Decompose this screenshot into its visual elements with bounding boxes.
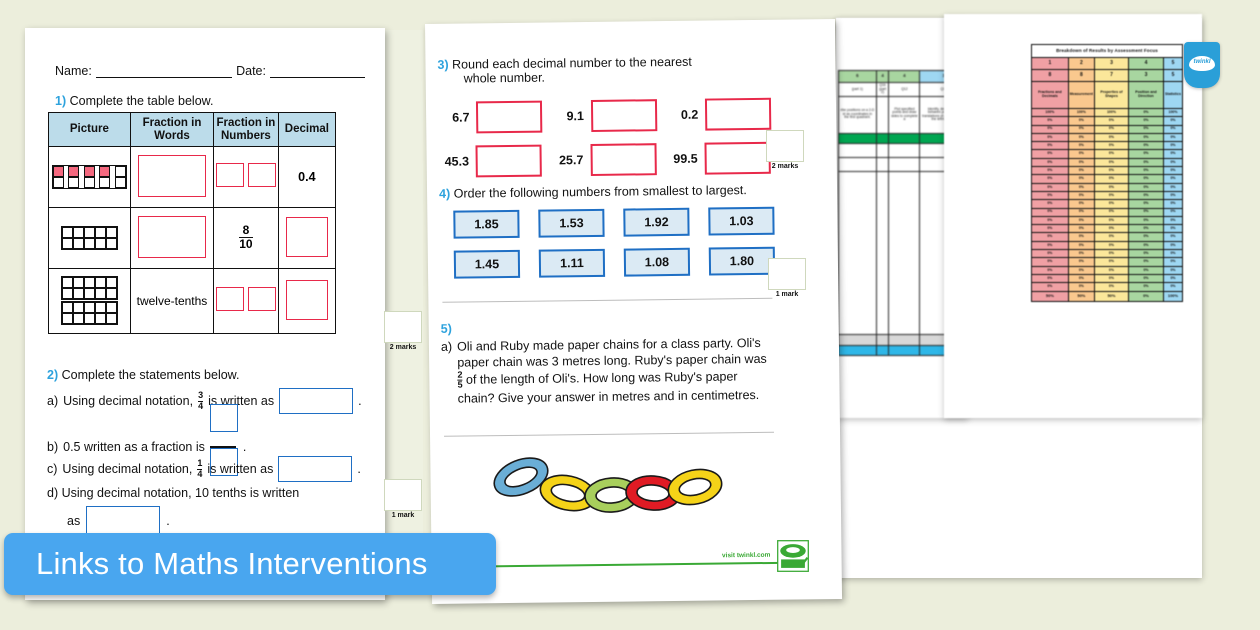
cell: 0%	[1163, 175, 1182, 183]
cell: 0%	[1128, 250, 1163, 258]
cell: 0%	[1032, 250, 1069, 258]
cell: 0%	[1163, 233, 1182, 241]
prompt-text: Order the following numbers from smalles…	[454, 183, 747, 201]
cell	[889, 133, 920, 143]
cell: 0%	[1068, 241, 1094, 249]
decimal-value: 45.3	[445, 154, 470, 168]
cell: 0%	[1128, 216, 1163, 224]
rounding-item: 99.5	[673, 142, 771, 175]
grid-cell	[62, 227, 73, 238]
answer-input-2d[interactable]	[86, 506, 160, 536]
name-input-line[interactable]	[96, 66, 232, 78]
banner-label: Links to Maths Interventions	[4, 546, 428, 582]
cell: 0%	[1032, 241, 1069, 249]
links-banner[interactable]: Links to Maths Interventions	[4, 533, 496, 595]
denominator: 4	[198, 401, 203, 411]
grid-cell	[84, 166, 95, 177]
decimal-cell-1: 0.4	[278, 147, 335, 208]
cell: 0%	[1128, 142, 1163, 150]
name-date-row: Name: Date:	[55, 64, 365, 78]
cell: 0%	[1032, 191, 1069, 199]
cell: 0%	[1163, 241, 1182, 249]
grid-row	[62, 302, 117, 313]
cell: 0%	[1068, 167, 1094, 175]
paper-chain-illustration	[488, 443, 728, 535]
cell: 0%	[1094, 233, 1128, 241]
date-input-line[interactable]	[270, 66, 365, 78]
mark-entry-field[interactable]	[384, 311, 422, 343]
grid-row	[62, 277, 117, 288]
fraction-words-cell-2	[130, 208, 213, 269]
cell: 0%	[1128, 266, 1163, 274]
cell: 0%	[1163, 158, 1182, 166]
blank-fraction[interactable]	[216, 163, 276, 187]
cell: 0%	[1128, 158, 1163, 166]
cell: 0%	[1032, 266, 1069, 274]
cell	[839, 334, 877, 345]
grid-cell	[53, 166, 64, 177]
answer-box[interactable]	[286, 280, 328, 320]
cell: Plot specified points and draw sides to …	[889, 96, 920, 133]
question-number: 2)	[47, 368, 58, 382]
grid-cell	[68, 166, 79, 177]
cell: 0%	[1032, 117, 1069, 125]
cell: 0%	[1128, 167, 1163, 175]
fraction-words-cell-1	[130, 147, 213, 208]
mark-label: 2 marks	[766, 162, 804, 170]
question-3-row-1: 6.7 9.1 0.2	[452, 98, 772, 134]
cell: 0%	[1128, 274, 1163, 282]
cell: 0%	[1094, 283, 1128, 291]
cell: 0%	[1163, 117, 1182, 125]
cell	[889, 157, 920, 171]
question-2d: d) Using decimal notation, 10 tenths is …	[47, 486, 299, 500]
decimal-value: 9.1	[566, 109, 584, 123]
item-label: b)	[47, 440, 58, 454]
grid-cell	[73, 227, 84, 238]
question-4-row-2: 1.45 1.11 1.08 1.80	[454, 247, 775, 279]
answer-box[interactable]	[705, 98, 771, 131]
cell: 0%	[1068, 258, 1094, 266]
cell: 0%	[1068, 117, 1094, 125]
grid-row	[62, 238, 117, 249]
decimal-value: 25.7	[559, 153, 584, 167]
answer-box[interactable]	[138, 155, 206, 197]
numerator: 2	[457, 370, 462, 380]
decimal-value: 0.2	[681, 108, 699, 122]
decimal-cell-3	[278, 269, 335, 334]
question-number: 4)	[439, 187, 450, 201]
cell	[876, 96, 889, 133]
grid-cell	[99, 166, 110, 177]
cell: 0%	[1094, 133, 1128, 141]
table-row: 0%0%0%0%0%	[1032, 167, 1183, 175]
mark-entry-field[interactable]	[766, 130, 804, 162]
table-row: twelve-tenths	[49, 269, 336, 334]
item-text-after: is written as	[207, 462, 273, 476]
table-row: 0%0%0%0%0%	[1032, 225, 1183, 233]
q5-line-1: Oli and Ruby made paper chains for a cla…	[457, 336, 761, 354]
cell: 0%	[1068, 225, 1094, 233]
question-5-text: a) Oli and Ruby made paper chains for a …	[441, 335, 782, 407]
grid-cell	[62, 238, 73, 249]
grid-cell	[106, 227, 117, 238]
cell: 0%	[1128, 208, 1163, 216]
cell: 50%	[1094, 291, 1128, 301]
table-row: 0%0%0%0%0%	[1032, 250, 1183, 258]
answer-box[interactable]	[591, 99, 657, 132]
grid-cell	[62, 302, 73, 313]
answer-box[interactable]	[286, 217, 328, 257]
cell: (part 1)	[839, 83, 877, 97]
cell: 0%	[1032, 167, 1069, 175]
mark-box-right-1: 2 marks	[766, 130, 804, 170]
grid-cell	[84, 302, 95, 313]
prompt-text: Complete the statements below.	[62, 368, 240, 382]
cell: 0%	[1163, 125, 1182, 133]
cell: 0%	[1163, 258, 1182, 266]
question-1-prompt: 1) Complete the table below.	[55, 94, 213, 108]
cell: 100%	[1094, 109, 1128, 117]
table-row: Breakdown of Results by Assessment Focus	[1032, 45, 1183, 58]
grid-cell	[62, 313, 73, 324]
grid-cell	[84, 177, 95, 188]
table-row: 1 2 3 4 5	[1032, 58, 1183, 70]
cell: 0%	[1163, 208, 1182, 216]
question-4-row-1: 1.85 1.53 1.92 1.03	[453, 207, 774, 239]
cell	[889, 334, 920, 345]
prompt-text: Complete the table below.	[70, 94, 214, 108]
cell	[876, 345, 889, 355]
number-chip[interactable]: 1.53	[538, 209, 604, 238]
cell: 0%	[1032, 258, 1069, 266]
cell: 0%	[1094, 117, 1128, 125]
fraction-three-quarters: 3 4	[198, 391, 203, 411]
answer-input-2a[interactable]	[279, 388, 353, 414]
cell: 0%	[1032, 133, 1069, 141]
cell	[889, 171, 920, 334]
mark-label: 2 marks	[384, 343, 422, 351]
column-header-fraction-words: Fraction in Words	[130, 113, 213, 147]
cell: 0%	[1032, 142, 1069, 150]
screenshot-stage: 6 4 4 3 (part 1) Q1b (part 2) Q12 Q16 ri…	[0, 0, 1260, 630]
answer-box[interactable]	[476, 101, 542, 134]
cell: 5	[1163, 70, 1182, 82]
cell: 0%	[1128, 191, 1163, 199]
decimal-value: 6.7	[452, 110, 470, 124]
fraction-eight-tenths: 8 10	[239, 224, 252, 250]
fraction-numbers-cell-3	[214, 269, 279, 334]
cell: 0%	[1128, 175, 1163, 183]
cell: 4	[889, 71, 920, 83]
cell: 0%	[1068, 233, 1094, 241]
answer-box[interactable]	[138, 216, 206, 258]
numerator-box[interactable]	[216, 287, 244, 311]
cell: 8	[1068, 70, 1094, 82]
cell: 3	[1128, 70, 1163, 82]
twinkl-badge-icon: twinkl	[1184, 42, 1220, 88]
q5-line-3: of the length of Oli's. How long was Rub…	[466, 369, 738, 386]
grid-cell	[115, 166, 126, 177]
numerator-box[interactable]	[216, 163, 244, 187]
cell: 0%	[1068, 208, 1094, 216]
cell: 100%	[1032, 109, 1069, 117]
denominator: 4	[197, 469, 202, 479]
period: .	[243, 440, 246, 454]
cell	[839, 345, 877, 355]
grid-cell	[95, 288, 106, 299]
fraction-numbers-cell-2: 8 10	[214, 208, 279, 269]
cell: 0%	[1032, 183, 1069, 191]
question-2d-answer: as .	[67, 506, 170, 536]
grid-cell	[84, 238, 95, 249]
table-row: 0%0%0%0%0%	[1032, 200, 1183, 208]
table-row: 0%0%0%0%0%	[1032, 150, 1183, 158]
cell: 7	[1094, 70, 1128, 82]
table-row: 100%100%100%0%100%	[1032, 109, 1183, 117]
denominator: 10	[239, 237, 252, 251]
question-3-row-2: 45.3 25.7 99.5	[444, 142, 770, 178]
cell: 0%	[1094, 250, 1128, 258]
cell: 0%	[1032, 283, 1069, 291]
question-3-prompt: 3) Round each decimal number to the near…	[437, 54, 767, 86]
grid-bottom	[61, 301, 118, 325]
divider-1	[442, 298, 772, 303]
grid-cell	[84, 227, 95, 238]
cell: 0%	[1094, 266, 1128, 274]
cell: 5	[1163, 58, 1182, 70]
cell: 0%	[1068, 250, 1094, 258]
cell: 0%	[1163, 200, 1182, 208]
table-row: 0%0%0%0%0%	[1032, 183, 1183, 191]
picture-cell-1	[49, 147, 131, 208]
cell: 0%	[1068, 125, 1094, 133]
cell: 0%	[1032, 225, 1069, 233]
question-2a: a) Using decimal notation, 3 4 is writte…	[47, 388, 362, 414]
cell: 0%	[1163, 216, 1182, 224]
cell: 0%	[1128, 225, 1163, 233]
answer-box[interactable]	[705, 142, 771, 175]
column-header-fraction-numbers: Fraction in Numbers	[214, 113, 279, 147]
grid-cell	[73, 277, 84, 288]
number-chip[interactable]: 1.03	[708, 207, 774, 236]
cell	[839, 143, 877, 157]
visit-twinkl-link[interactable]: visit twinkl.com	[722, 552, 770, 560]
cell: 0%	[1094, 191, 1128, 199]
cell	[876, 133, 889, 143]
cell: 0%	[1068, 200, 1094, 208]
grid-cell	[84, 313, 95, 324]
cell: 0%	[1128, 133, 1163, 141]
table-row: 0%0%0%0%0%	[1032, 241, 1183, 249]
mark-box-left-2: 1 mark	[384, 479, 422, 519]
grid-row	[62, 288, 117, 299]
table-row: 0%0%0%0%0%	[1032, 283, 1183, 291]
cell: 0%	[1163, 150, 1182, 158]
cell: 0%	[1094, 258, 1128, 266]
mark-box-right-2: 1 mark	[768, 258, 806, 298]
table-row: 0%0%0%0%0%	[1032, 274, 1183, 282]
cell: 0%	[1128, 125, 1163, 133]
question-5-number: 5)	[441, 322, 452, 336]
cell: 0%	[1163, 142, 1182, 150]
grid-cell	[95, 238, 106, 249]
blank-fraction[interactable]	[216, 287, 276, 311]
cell: 0%	[1068, 216, 1094, 224]
cell	[889, 345, 920, 355]
grid-row	[62, 313, 117, 324]
cell	[839, 133, 877, 143]
grid-cell	[106, 238, 117, 249]
table-row: 8 10	[49, 208, 336, 269]
results-table-body: 100%100%100%0%100%0%0%0%0%0%0%0%0%0%0%0%…	[1032, 109, 1183, 292]
item-text-before: 0.5 written as a fraction is	[63, 440, 205, 454]
cell: 3	[1094, 58, 1128, 70]
cell: 0%	[1163, 250, 1182, 258]
table-row: 8 8 7 3 5	[1032, 70, 1183, 82]
results-table-title: Breakdown of Results by Assessment Focus	[1032, 45, 1183, 58]
grid-cell	[95, 227, 106, 238]
mark-entry-field[interactable]	[768, 258, 806, 290]
cell: 0%	[1128, 117, 1163, 125]
cell: 0%	[1163, 283, 1182, 291]
cell: 0%	[1128, 241, 1163, 249]
numerator: 8	[243, 223, 250, 237]
item-text-before: Using decimal notation,	[63, 394, 193, 408]
grid-row	[53, 177, 126, 188]
question-2c: c) Using decimal notation, 1 4 is writte…	[47, 456, 361, 482]
decimal-cell-2	[278, 208, 335, 269]
grid-cell	[106, 277, 117, 288]
cell: 0%	[1094, 142, 1128, 150]
twenty-cell-grid-icon	[61, 279, 118, 321]
fraction-words-cell-3: twelve-tenths	[130, 269, 213, 334]
question-4-prompt: 4) Order the following numbers from smal…	[439, 183, 747, 201]
cell	[876, 171, 889, 334]
number-chip[interactable]: 1.85	[453, 210, 519, 239]
numerator: 3	[198, 390, 203, 400]
grid-cell	[68, 177, 79, 188]
cell: 0%	[1032, 158, 1069, 166]
cell	[839, 171, 877, 334]
cell: 4	[1128, 58, 1163, 70]
answer-box[interactable]	[590, 143, 656, 176]
prompt-line-2: whole number.	[438, 68, 768, 86]
cell: 0%	[1032, 150, 1069, 158]
item-label: c)	[47, 462, 57, 476]
mark-label: 1 mark	[768, 290, 806, 298]
cell	[876, 143, 889, 157]
cell: 0%	[1032, 200, 1069, 208]
grid-cell	[73, 313, 84, 324]
date-label: Date:	[236, 64, 266, 78]
cell: 50%	[1068, 291, 1094, 301]
number-chip[interactable]: 1.45	[454, 250, 520, 279]
q5-line-4: chain? Give your answer in metres and in…	[458, 388, 760, 406]
cell: 0%	[1068, 158, 1094, 166]
table-header-row: Picture Fraction in Words Fraction in Nu…	[49, 113, 336, 147]
cell: 0%	[1163, 266, 1182, 274]
grid-cell	[106, 302, 117, 313]
table-row: 0%0%0%0%0%	[1032, 266, 1183, 274]
table-row: 0%0%0%0%0%	[1032, 125, 1183, 133]
period: .	[358, 394, 361, 408]
cell: 100%	[1068, 109, 1094, 117]
tenths-grid-four-filled-icon	[52, 165, 127, 189]
cell: Properties of Shapes	[1094, 82, 1128, 109]
q5-line-2: paper chain was 3 metres long. Ruby's pa…	[457, 352, 767, 370]
table-row: 0%0%0%0%0%	[1032, 158, 1183, 166]
cell: 0%	[1068, 266, 1094, 274]
cell: 0%	[1094, 208, 1128, 216]
cell: 0%	[1163, 183, 1182, 191]
cell: 0%	[1032, 175, 1069, 183]
item-label: d)	[47, 486, 58, 500]
cell: 6	[839, 71, 877, 83]
grid-cell	[73, 302, 84, 313]
table-row: Fractions and Decimals Measurement Prope…	[1032, 82, 1183, 109]
mark-label: 1 mark	[384, 511, 422, 519]
column-header-picture: Picture	[49, 113, 131, 147]
mark-entry-field[interactable]	[384, 479, 422, 511]
cell: 0%	[1094, 150, 1128, 158]
cell	[876, 334, 889, 345]
grid-cell	[95, 302, 106, 313]
period: .	[166, 514, 169, 528]
answer-box[interactable]	[476, 145, 542, 178]
table-row: 0%0%0%0%0%	[1032, 208, 1183, 216]
cell: 0%	[1128, 200, 1163, 208]
cell: ribe positions on a 2-D id as coordinate…	[839, 96, 877, 133]
cell: 0%	[1068, 142, 1094, 150]
rounding-item: 0.2	[681, 98, 772, 131]
number-chip[interactable]: 1.08	[624, 248, 690, 277]
cell: Position and Direction	[1128, 82, 1163, 109]
cell: 0%	[1068, 191, 1094, 199]
rounding-item: 9.1	[566, 99, 657, 132]
cell: 0%	[1128, 150, 1163, 158]
table-row: 0%0%0%0%0%	[1032, 191, 1183, 199]
grid-cell	[95, 277, 106, 288]
cell: 50%	[1032, 291, 1069, 301]
cell: 0%	[1163, 225, 1182, 233]
grid-cell	[84, 277, 95, 288]
grid-row	[62, 227, 117, 238]
grid-cell	[115, 177, 126, 188]
number-chip[interactable]: 1.11	[539, 249, 605, 278]
number-chip[interactable]: 1.92	[623, 208, 689, 237]
cell: 0%	[1094, 183, 1128, 191]
fractions-table: Picture Fraction in Words Fraction in Nu…	[48, 112, 336, 334]
number-chip[interactable]: 1.80	[709, 247, 775, 276]
rounding-item: 45.3	[444, 145, 542, 178]
grid-cell	[99, 177, 110, 188]
rounding-item: 6.7	[452, 101, 543, 134]
prompt-line-1: Round each decimal number to the nearest	[452, 55, 692, 72]
table-row: 0%0%0%0%0%	[1032, 216, 1183, 224]
numerator-box[interactable]	[210, 404, 238, 432]
cell: 0%	[1068, 175, 1094, 183]
denominator-box[interactable]	[248, 163, 276, 187]
cell: 8	[1032, 70, 1069, 82]
table-row: 0%0%0%0%0%	[1032, 142, 1183, 150]
denominator-box[interactable]	[248, 287, 276, 311]
cell: 0%	[1128, 233, 1163, 241]
grid-cell	[62, 277, 73, 288]
answer-input-2c[interactable]	[278, 456, 352, 482]
question-2-prompt: 2) Complete the statements below.	[47, 368, 239, 382]
cell: 4	[876, 71, 889, 83]
